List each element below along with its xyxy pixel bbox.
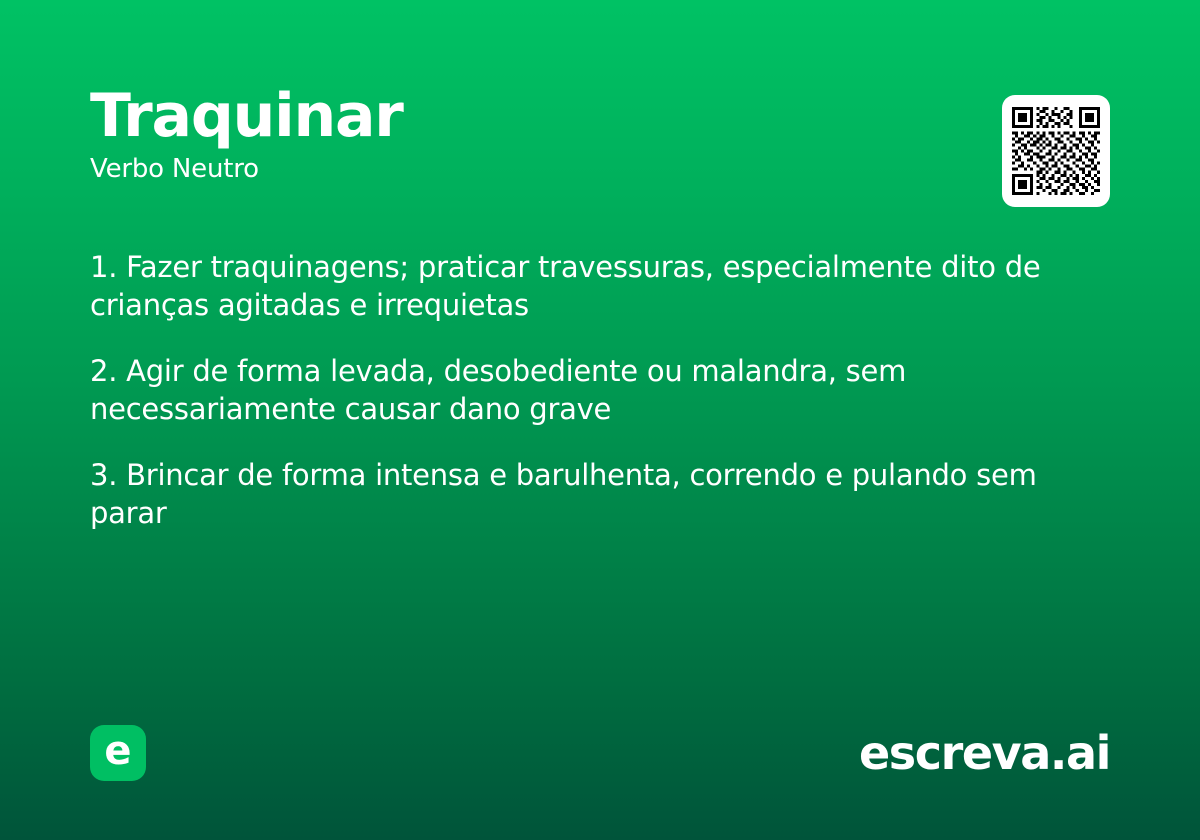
- definition-item: 1. Fazer traquinagens; praticar travessu…: [90, 248, 1080, 324]
- dictionary-card: Traquinar Verbo Neutro: [0, 0, 1200, 840]
- card-header: Traquinar Verbo Neutro: [90, 86, 970, 185]
- word-class-label: Verbo Neutro: [90, 155, 970, 185]
- card-footer: e escreva.ai: [90, 724, 1110, 782]
- brand-name: escreva.ai: [859, 730, 1110, 776]
- definition-item: 2. Agir de forma levada, desobediente ou…: [90, 352, 1080, 428]
- definition-item: 3. Brincar de forma intensa e barulhenta…: [90, 456, 1080, 532]
- qr-code-icon: [1012, 107, 1100, 195]
- definition-list: 1. Fazer traquinagens; praticar travessu…: [90, 248, 1080, 532]
- page-title: Traquinar: [90, 86, 970, 147]
- brand-logo-icon: e: [90, 725, 146, 781]
- brand-logo-letter: e: [104, 731, 131, 771]
- qr-code-card[interactable]: [1002, 95, 1110, 207]
